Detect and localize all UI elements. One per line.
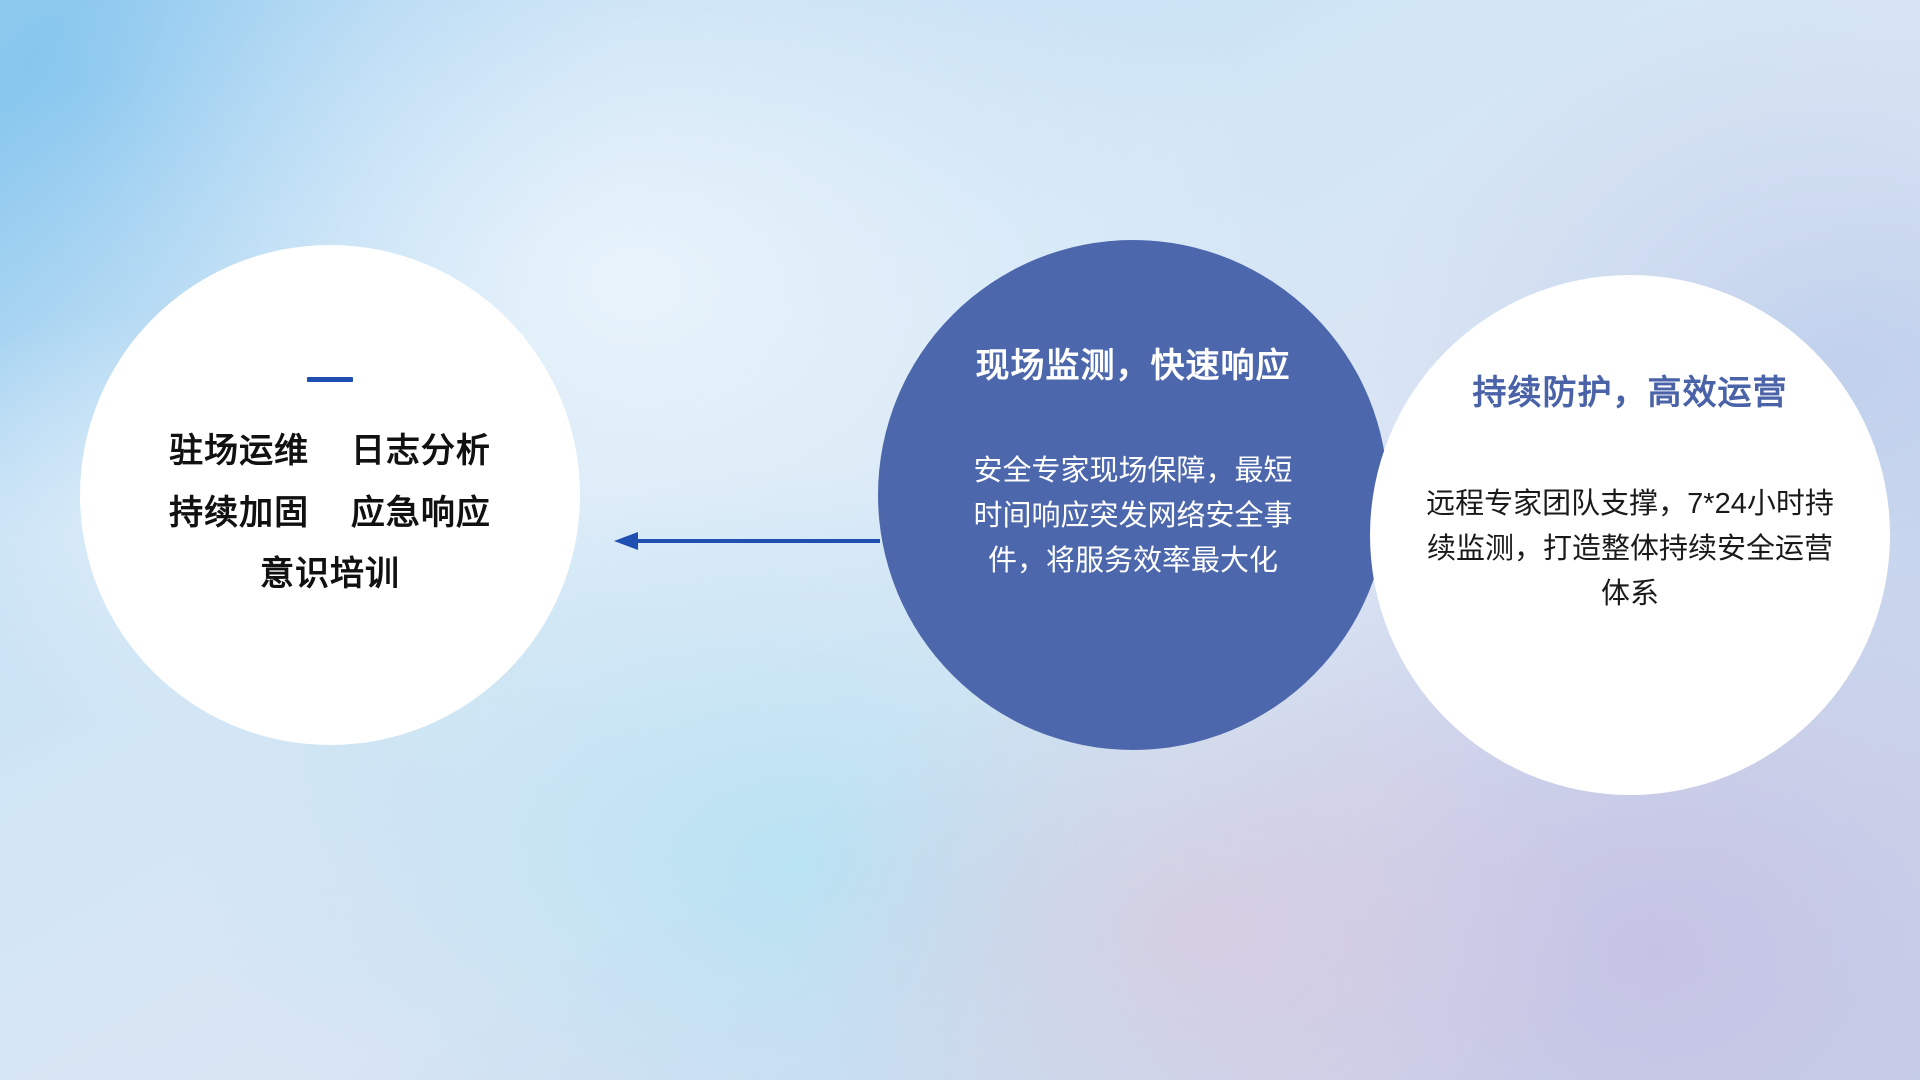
onsite-monitoring-body: 安全专家现场保障，最短时间响应突发网络安全事件，将服务效率最大化 [963,449,1303,584]
continuous-protection-title: 持续防护，高效运营 [1473,365,1788,414]
arrow-left-icon [612,529,884,553]
divider-dash [307,377,353,382]
slide-canvas: 驻场运维 日志分析 持续加固 应急响应 意识培训 现场监测，快速响应 安全专家现… [0,0,1920,1080]
onsite-monitoring-circle[interactable]: 现场监测，快速响应 安全专家现场保障，最短时间响应突发网络安全事件，将服务效率最… [878,240,1388,750]
capability-list: 驻场运维 日志分析 持续加固 应急响应 意识培训 [169,434,491,593]
continuous-protection-circle[interactable]: 持续防护，高效运营 远程专家团队支撑，7*24小时持续监测，打造整体持续安全运营… [1370,275,1890,795]
capability-circle-left[interactable]: 驻场运维 日志分析 持续加固 应急响应 意识培训 [80,245,580,745]
capability-line-1: 驻场运维 日志分析 [169,434,491,470]
onsite-monitoring-title: 现场监测，快速响应 [976,338,1291,387]
continuous-protection-body: 远程专家团队支撑，7*24小时持续监测，打造整体持续安全运营体系 [1420,482,1840,617]
capability-line-2: 持续加固 应急响应 [169,496,491,532]
capability-line-3: 意识培训 [260,557,400,593]
